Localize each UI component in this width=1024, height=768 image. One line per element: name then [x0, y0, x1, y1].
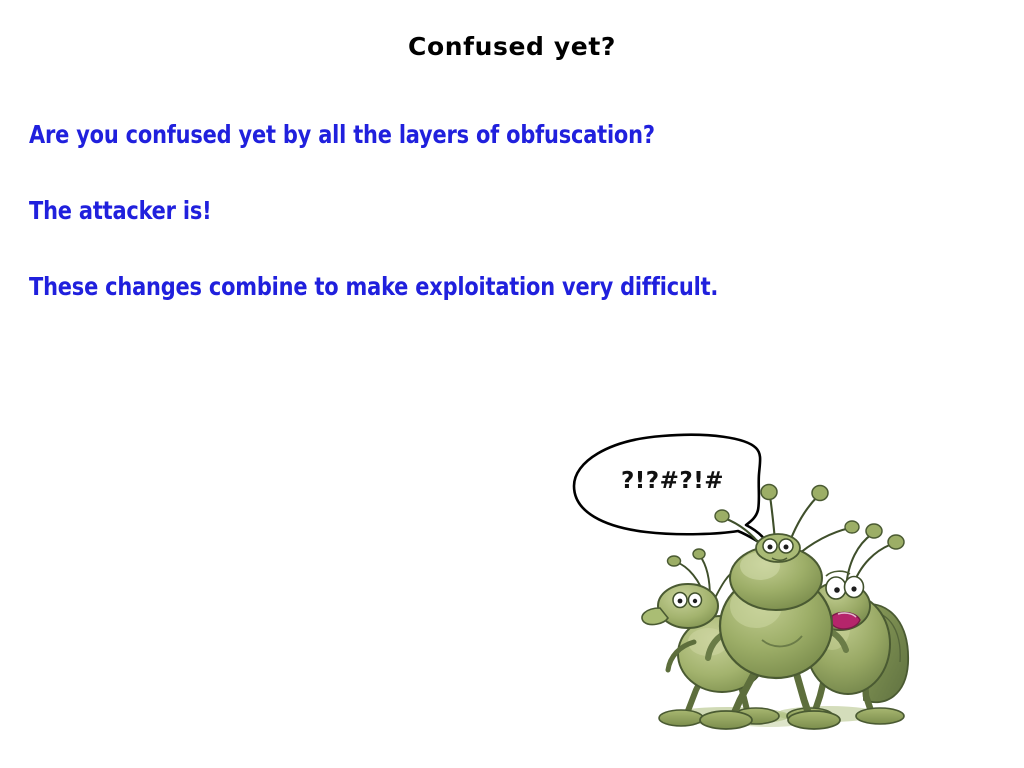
slide-canvas: Confused yet? Are you confused yet by al… [0, 0, 1024, 768]
slide-body: Are you confused yet by all the layers o… [29, 120, 929, 302]
body-line-3: These changes combine to make exploitati… [29, 272, 866, 302]
page-title: Confused yet? [0, 30, 1024, 64]
body-line-1: Are you confused yet by all the layers o… [29, 120, 866, 150]
body-line-2: The attacker is! [29, 196, 866, 226]
speech-bubble-text: ?!?#?!# [610, 468, 735, 494]
